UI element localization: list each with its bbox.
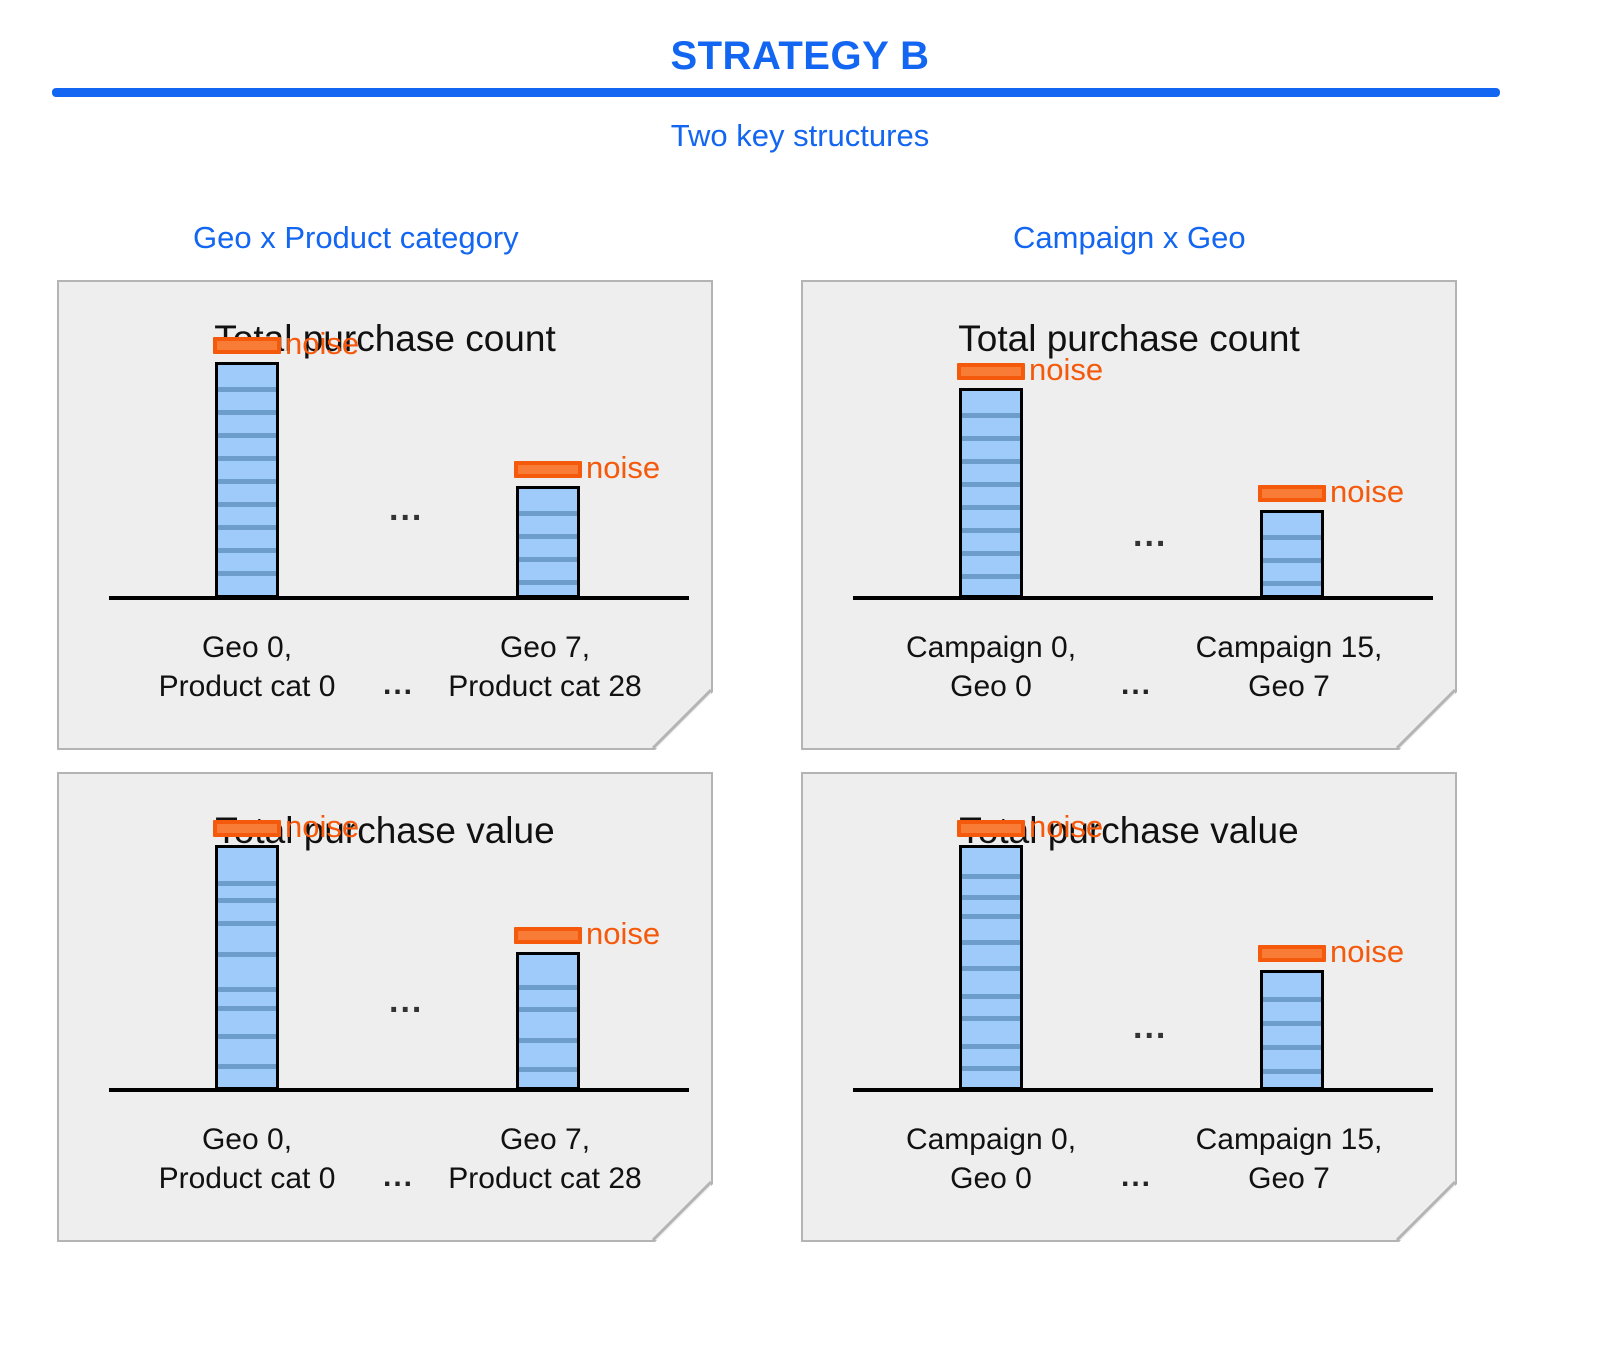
bar-group-primary: noise [959, 388, 1023, 598]
noise-block [213, 337, 281, 354]
noise-block [957, 820, 1025, 837]
bar[interactable] [959, 845, 1023, 1090]
bar[interactable] [215, 845, 279, 1090]
bar[interactable] [516, 486, 580, 598]
title-divider [52, 88, 1500, 97]
bar-group-primary: noise [959, 845, 1023, 1090]
bar[interactable] [215, 362, 279, 598]
bar[interactable] [1260, 510, 1324, 598]
x-axis-line [853, 596, 1433, 600]
x-tick-label: Campaign 0, Geo 0 [839, 629, 1143, 706]
noise-block [514, 461, 582, 478]
ellipsis-icon: ... [383, 670, 414, 700]
noise-label: noise [586, 918, 660, 949]
noise-label: noise [1029, 354, 1103, 385]
bar-group-primary: noise [215, 362, 279, 598]
ellipsis-icon: ... [1133, 1010, 1167, 1044]
x-axis-line [109, 1088, 689, 1092]
x-axis-line [853, 1088, 1433, 1092]
x-tick-label: Geo 7, Product cat 28 [393, 629, 697, 706]
card-geo-product-count[interactable]: Total purchase count noise noise ... Geo… [57, 280, 713, 750]
card-geo-product-value[interactable]: Total purchase value noise noise ... Geo… [57, 772, 713, 1242]
bar[interactable] [959, 388, 1023, 598]
bar-group-secondary: noise [516, 486, 580, 598]
noise-block [213, 820, 281, 837]
card-campaign-geo-count[interactable]: Total purchase count noise noise ... Cam… [801, 280, 1457, 750]
page-subtitle: Two key structures [0, 118, 1600, 154]
chart-plot-area: noise noise ... Geo 0, Product cat 0 Geo… [59, 774, 711, 1240]
ellipsis-icon: ... [389, 492, 423, 526]
ellipsis-icon: ... [1121, 670, 1152, 700]
card-campaign-geo-value[interactable]: Total purchase value noise noise ... Cam… [801, 772, 1457, 1242]
noise-label: noise [285, 328, 359, 359]
x-tick-label: Geo 7, Product cat 28 [393, 1121, 697, 1198]
noise-block [514, 927, 582, 944]
noise-block [1258, 945, 1326, 962]
bar-group-secondary: noise [1260, 510, 1324, 598]
x-tick-label: Geo 0, Product cat 0 [95, 1121, 399, 1198]
chart-plot-area: noise noise ... Campaign 0, Geo 0 Campai… [803, 774, 1455, 1240]
bar[interactable] [516, 952, 580, 1090]
noise-label: noise [1330, 936, 1404, 967]
ellipsis-icon: ... [383, 1162, 414, 1192]
x-tick-label: Campaign 15, Geo 7 [1137, 1121, 1441, 1198]
chart-plot-area: noise noise ... Campaign 0, Geo 0 Campai… [803, 282, 1455, 748]
page-title: STRATEGY B [0, 34, 1600, 79]
x-tick-label: Campaign 0, Geo 0 [839, 1121, 1143, 1198]
noise-label: noise [1029, 811, 1103, 842]
bar-group-secondary: noise [1260, 970, 1324, 1090]
column-header-geo-product: Geo x Product category [193, 220, 519, 256]
noise-label: noise [285, 811, 359, 842]
x-axis-line [109, 596, 689, 600]
noise-block [957, 363, 1025, 380]
ellipsis-icon: ... [389, 984, 423, 1018]
noise-label: noise [1330, 476, 1404, 507]
ellipsis-icon: ... [1133, 518, 1167, 552]
bar[interactable] [1260, 970, 1324, 1090]
column-header-campaign-geo: Campaign x Geo [1013, 220, 1246, 256]
x-tick-label: Campaign 15, Geo 7 [1137, 629, 1441, 706]
bar-group-primary: noise [215, 845, 279, 1090]
chart-plot-area: noise noise ... Geo 0, Product cat 0 Geo… [59, 282, 711, 748]
noise-label: noise [586, 452, 660, 483]
noise-block [1258, 485, 1326, 502]
x-tick-label: Geo 0, Product cat 0 [95, 629, 399, 706]
ellipsis-icon: ... [1121, 1162, 1152, 1192]
bar-group-secondary: noise [516, 952, 580, 1090]
